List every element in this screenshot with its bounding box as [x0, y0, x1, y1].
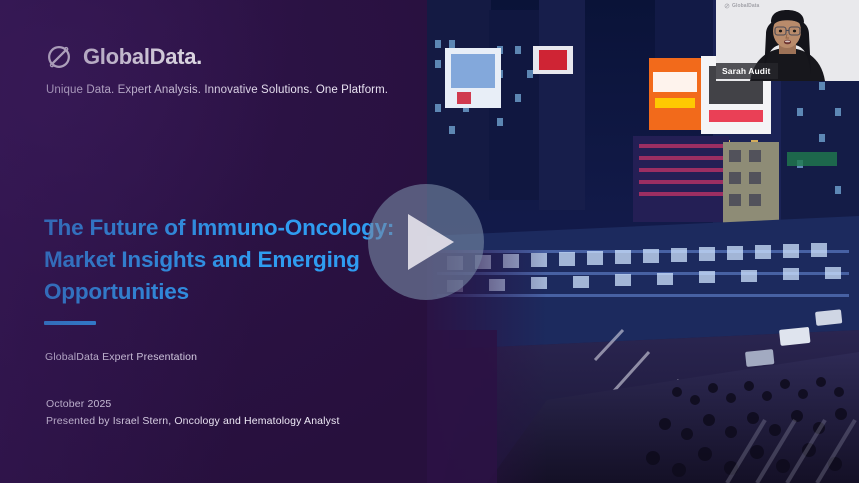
- slide-title: The Future of Immuno-Oncology: Market In…: [44, 212, 414, 325]
- title-line-2: Market Insights and Emerging: [44, 244, 414, 276]
- play-button[interactable]: [368, 184, 484, 300]
- slide-meta: October 2025 Presented by Israel Stern, …: [46, 396, 340, 431]
- slide-left-panel: GlobalData. Unique Data. Expert Analysis…: [0, 0, 430, 483]
- title-line-1: The Future of Immuno-Oncology:: [44, 212, 414, 244]
- globaldata-circle-slash-icon: [44, 42, 74, 72]
- brand-tagline: Unique Data. Expert Analysis. Innovative…: [46, 84, 388, 96]
- globaldata-circle-slash-icon: [724, 3, 730, 9]
- presenter-webcam[interactable]: GlobalData Sarah Audit: [716, 0, 859, 81]
- webcam-watermark-text: GlobalData: [732, 3, 759, 9]
- slide-kicker: GlobalData Expert Presentation: [45, 351, 197, 363]
- video-player-frame: GlobalData. Unique Data. Expert Analysis…: [0, 0, 859, 483]
- brand-logo: GlobalData.: [44, 42, 202, 72]
- webcam-watermark: GlobalData: [724, 3, 759, 9]
- title-accent-bar: [44, 321, 96, 325]
- title-line-3: Opportunities: [44, 276, 414, 308]
- slide-date: October 2025: [46, 396, 340, 413]
- presenter-name-label: Sarah Audit: [716, 63, 778, 79]
- slide-presenter: Presented by Israel Stern, Oncology and …: [46, 413, 340, 430]
- play-triangle-icon: [408, 214, 454, 270]
- brand-name: GlobalData.: [83, 46, 202, 68]
